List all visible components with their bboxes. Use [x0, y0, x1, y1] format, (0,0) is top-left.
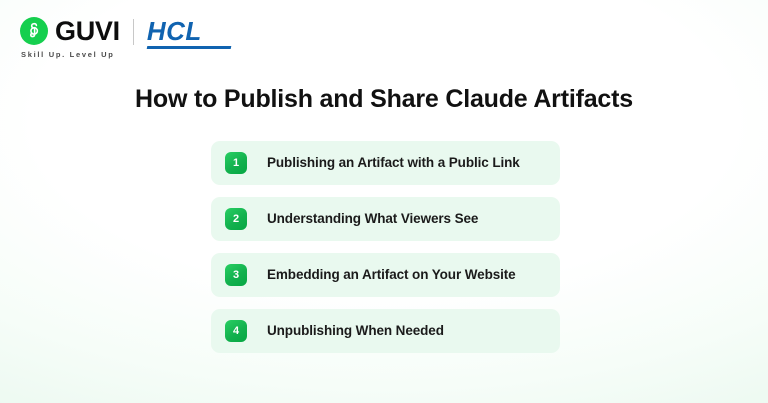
list-item[interactable]: 2 Understanding What Viewers See: [211, 197, 560, 241]
guvi-logo-row: GUVI: [20, 17, 120, 45]
step-label: Unpublishing When Needed: [267, 323, 444, 339]
list-item[interactable]: 1 Publishing an Artifact with a Public L…: [211, 141, 560, 185]
guvi-brand: GUVI Skill Up. Level Up: [20, 17, 120, 59]
step-label: Embedding an Artifact on Your Website: [267, 267, 516, 283]
step-number-badge: 4: [225, 320, 247, 342]
step-label: Understanding What Viewers See: [267, 211, 478, 227]
list-item[interactable]: 4 Unpublishing When Needed: [211, 309, 560, 353]
step-label: Publishing an Artifact with a Public Lin…: [267, 155, 520, 171]
page-title: How to Publish and Share Claude Artifact…: [0, 84, 768, 114]
hcl-wordmark: HCL: [147, 18, 202, 44]
vertical-divider-icon: [133, 19, 134, 45]
step-number-badge: 2: [225, 208, 247, 230]
step-number-badge: 3: [225, 264, 247, 286]
hcl-brand: HCL: [147, 18, 231, 49]
hcl-underline-icon: [146, 46, 231, 49]
slide-canvas: GUVI Skill Up. Level Up HCL How to Publi…: [0, 0, 768, 403]
guvi-g-logo-icon: [20, 17, 48, 45]
guvi-tagline: Skill Up. Level Up: [21, 51, 115, 59]
list-item[interactable]: 3 Embedding an Artifact on Your Website: [211, 253, 560, 297]
step-number-badge: 1: [225, 152, 247, 174]
brand-lockup: GUVI Skill Up. Level Up HCL: [20, 17, 231, 59]
steps-list: 1 Publishing an Artifact with a Public L…: [211, 141, 560, 353]
guvi-wordmark: GUVI: [55, 18, 120, 45]
